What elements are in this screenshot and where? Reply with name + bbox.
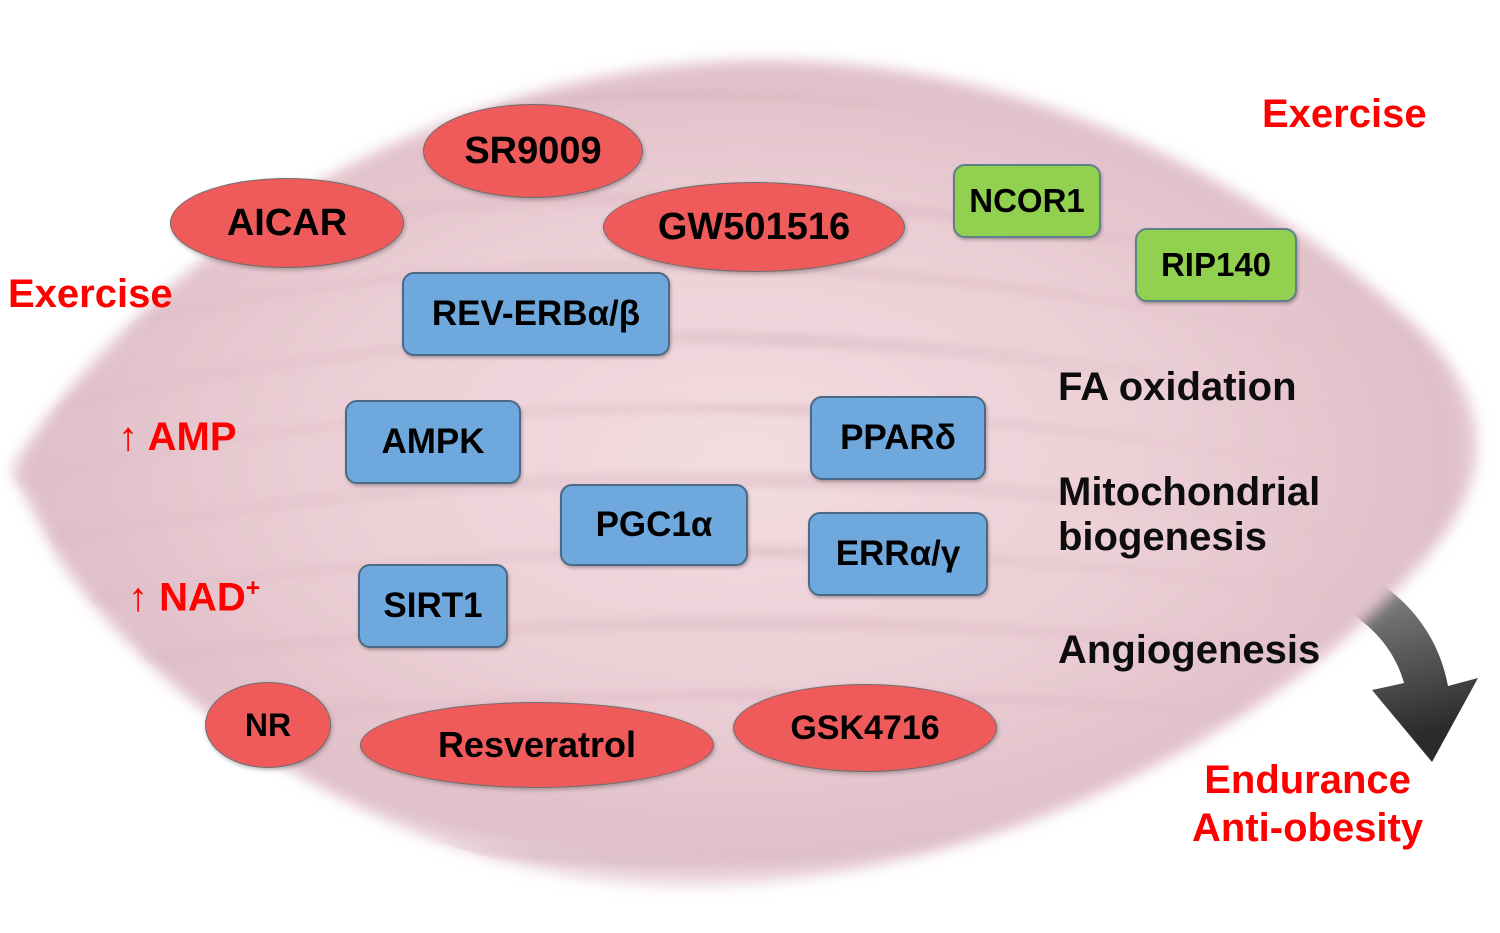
compound-nr-label: NR [245, 707, 291, 744]
stimulus-exercise-right-label: Exercise [1262, 92, 1427, 136]
up-arrow-icon: ↑ [118, 415, 138, 459]
compound-sr9009[interactable]: SR9009 [423, 104, 643, 198]
factor-pgc1a[interactable]: PGC1α [560, 484, 748, 566]
compound-gw501516[interactable]: GW501516 [603, 182, 905, 272]
compound-gsk4716-label: GSK4716 [790, 709, 939, 748]
metabolite-nad-label: NAD [159, 575, 246, 619]
corepressor-rip140[interactable]: RIP140 [1135, 228, 1297, 302]
factor-ampk[interactable]: AMPK [345, 400, 521, 484]
factor-sirt1-label: SIRT1 [383, 586, 482, 626]
factor-ppard-label: PPARδ [840, 418, 956, 458]
metabolite-amp-label: AMP [148, 415, 237, 459]
metabolite-amp: ↑ AMP [118, 415, 237, 460]
factor-rev-erb[interactable]: REV-ERBα/β [402, 272, 670, 356]
metabolite-nad: ↑ NAD+ [128, 575, 260, 620]
stimulus-exercise-right: Exercise [1262, 92, 1427, 137]
final-outcome-line1: Endurance [1192, 756, 1423, 804]
outcome-mito-biogenesis-line2: biogenesis [1058, 515, 1320, 560]
outcome-mito-biogenesis-line1: Mitochondrial [1058, 470, 1320, 515]
compound-gsk4716[interactable]: GSK4716 [733, 684, 997, 772]
compound-nr[interactable]: NR [205, 682, 331, 768]
corepressor-ncor1[interactable]: NCOR1 [953, 164, 1101, 238]
up-arrow-icon: ↑ [128, 575, 148, 619]
factor-ppard[interactable]: PPARδ [810, 396, 986, 480]
outcome-mito-biogenesis: Mitochondrial biogenesis [1058, 470, 1320, 560]
compound-gw501516-label: GW501516 [658, 206, 850, 249]
metabolite-nad-superscript: + [246, 575, 260, 602]
outcome-angiogenesis: Angiogenesis [1058, 628, 1320, 673]
factor-ampk-label: AMPK [381, 422, 484, 462]
compound-resveratrol-label: Resveratrol [438, 724, 636, 766]
compound-sr9009-label: SR9009 [464, 130, 601, 173]
outcome-fa-oxidation-label: FA oxidation [1058, 365, 1297, 409]
factor-pgc1a-label: PGC1α [596, 505, 713, 545]
factor-sirt1[interactable]: SIRT1 [358, 564, 508, 648]
stimulus-exercise-left: Exercise [8, 272, 173, 317]
pathway-diagram: AICAR SR9009 GW501516 NR Resveratrol GSK… [0, 0, 1500, 933]
outcome-fa-oxidation: FA oxidation [1058, 365, 1297, 410]
stimulus-exercise-left-label: Exercise [8, 272, 173, 316]
corepressor-rip140-label: RIP140 [1161, 246, 1271, 284]
outcome-angiogenesis-label: Angiogenesis [1058, 628, 1320, 672]
factor-erra[interactable]: ERRα/γ [808, 512, 988, 596]
compound-aicar[interactable]: AICAR [170, 178, 404, 268]
final-outcome-line2: Anti-obesity [1192, 804, 1423, 852]
corepressor-ncor1-label: NCOR1 [969, 182, 1085, 220]
final-outcome: Endurance Anti-obesity [1192, 756, 1423, 852]
factor-rev-erb-label: REV-ERBα/β [432, 294, 640, 334]
factor-erra-label: ERRα/γ [836, 534, 961, 574]
compound-resveratrol[interactable]: Resveratrol [360, 702, 714, 788]
compound-aicar-label: AICAR [227, 202, 347, 245]
